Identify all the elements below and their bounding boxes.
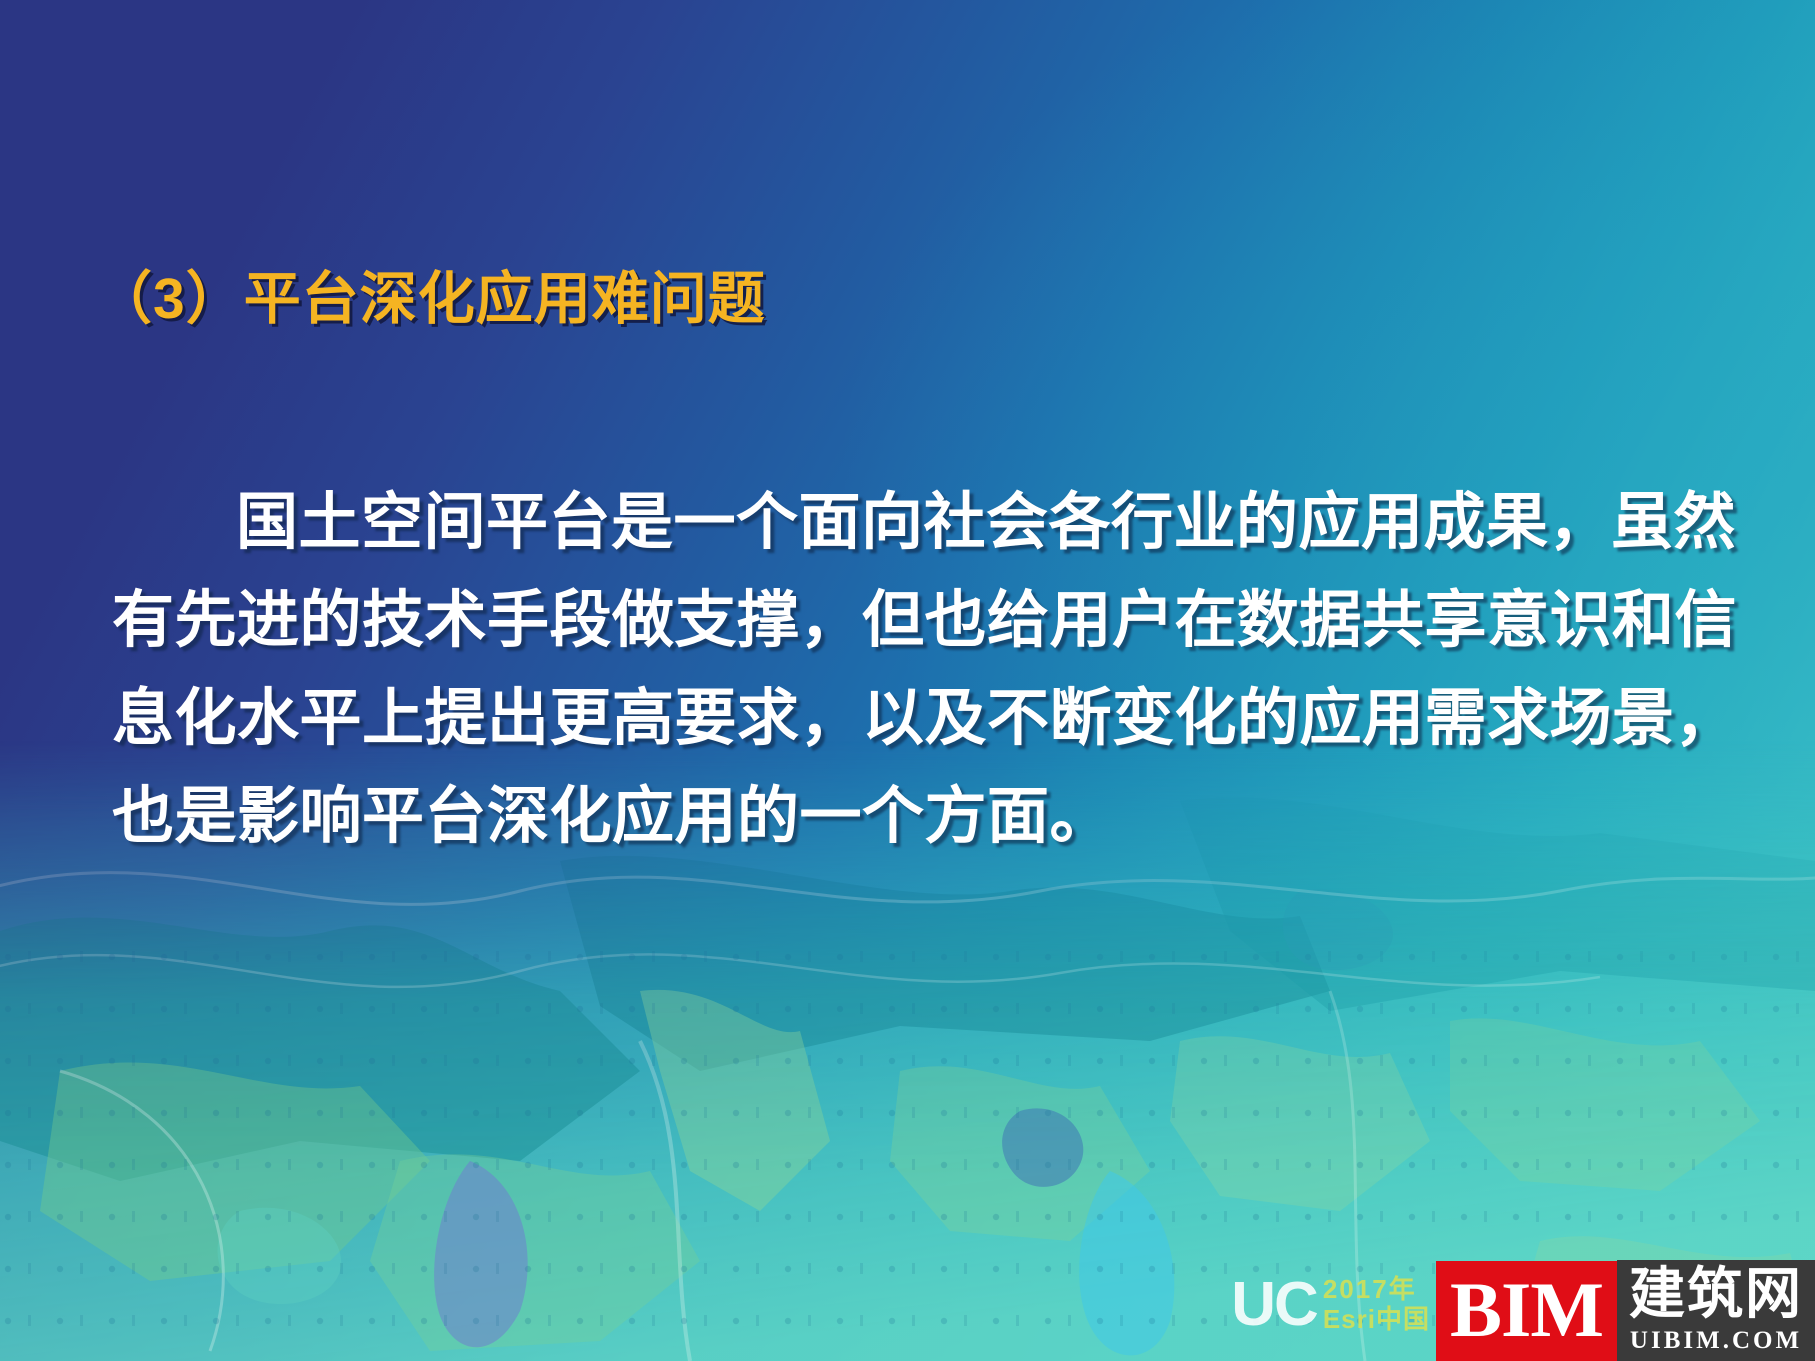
bim-watermark-badge: BIM <box>1436 1261 1617 1361</box>
uc-logo-mark: UC <box>1231 1277 1317 1333</box>
body-line: 国土空间平台是一个面向社会各行业的应用成果，虽然 <box>112 474 1712 572</box>
watermark-cluster: UC 2017年 Esri中国 BIM 建筑网 UIBIM.COM <box>1231 1253 1815 1361</box>
uc-conference-logo: UC 2017年 Esri中国 <box>1231 1257 1436 1361</box>
uc-logo-year: 2017年 <box>1323 1275 1430 1305</box>
presentation-slide: （3）平台深化应用难问题 国土空间平台是一个面向社会各行业的应用成果，虽然 有先… <box>0 0 1815 1361</box>
uibim-watermark-badge: 建筑网 UIBIM.COM <box>1617 1260 1815 1361</box>
body-line: 有先进的技术手段做支撑，但也给用户在数据共享意识和信 <box>112 572 1712 670</box>
slide-body-paragraph: 国土空间平台是一个面向社会各行业的应用成果，虽然 有先进的技术手段做支撑，但也给… <box>112 474 1712 866</box>
uibim-chinese-label: 建筑网 <box>1629 1266 1803 1322</box>
body-line: 息化水平上提出更高要求，以及不断变化的应用需求场景， <box>112 670 1712 768</box>
uc-logo-org: Esri中国 <box>1323 1305 1430 1335</box>
slide-title: （3）平台深化应用难问题 <box>95 268 766 331</box>
uibim-domain-label: UIBIM.COM <box>1630 1328 1802 1353</box>
uc-logo-subtitle: 2017年 Esri中国 <box>1323 1275 1430 1335</box>
body-line: 也是影响平台深化应用的一个方面。 <box>112 768 1712 866</box>
